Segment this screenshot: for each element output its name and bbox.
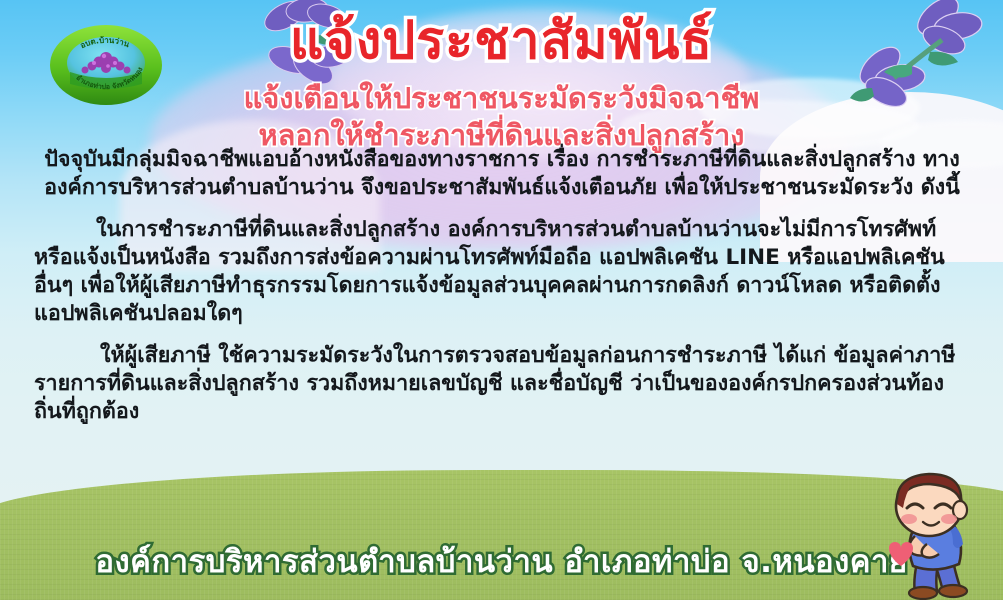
announcement-body: ปัจจุบันมีกลุ่มมิจฉาชีพแอบอ้างหนังสือของ… bbox=[34, 146, 970, 439]
footer-container: องค์การบริหารส่วนตำบลบ้านว่าน อำเภอท่าบ่… bbox=[0, 536, 1003, 586]
poster-subtitle-container: แจ้งเตือนให้ประชาชนระมัดระวังมิจฉาชีพ หล… bbox=[0, 80, 1003, 154]
subtitle-line-1: แจ้งเตือนให้ประชาชนระมัดระวังมิจฉาชีพ bbox=[0, 80, 1003, 117]
heart-icon bbox=[889, 542, 913, 566]
paragraph-2: ในการชำระภาษีที่ดินและสิ่งปลูกสร้าง องค์… bbox=[34, 216, 970, 328]
poster-title-container: แจ้งประชาสัมพันธ์ bbox=[0, 14, 1003, 69]
organization-name: องค์การบริหารส่วนตำบลบ้านว่าน อำเภอท่าบ่… bbox=[95, 536, 907, 586]
paragraph-3: ให้ผู้เสียภาษี ใช้ความระมัดระวังในการตรว… bbox=[34, 342, 970, 426]
page-title: แจ้งประชาสัมพันธ์ bbox=[290, 14, 713, 69]
bowing-boy-mascot bbox=[861, 470, 1001, 600]
announcement-poster: อบต.บ้านว่าน อำเภอท่าบ่อ จังหวัดหนองคาย bbox=[0, 0, 1003, 600]
paragraph-1: ปัจจุบันมีกลุ่มมิจฉาชีพแอบอ้างหนังสือของ… bbox=[34, 146, 970, 202]
